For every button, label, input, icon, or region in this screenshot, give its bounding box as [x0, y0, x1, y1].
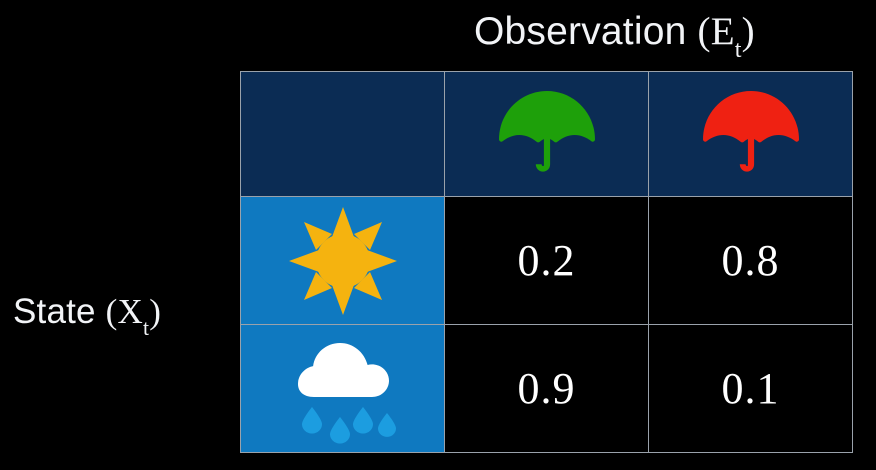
table-row: 0.2 0.8	[241, 197, 853, 325]
state-open-paren: (	[106, 292, 118, 331]
probability-cell-sun-red: 0.8	[649, 197, 853, 325]
state-variable: X	[118, 292, 143, 331]
row-header-rainy	[241, 325, 445, 453]
probability-cell-rain-green: 0.9	[445, 325, 649, 453]
probability-value: 0.1	[722, 367, 780, 411]
probability-cell-sun-green: 0.2	[445, 197, 649, 325]
row-header-sunny	[241, 197, 445, 325]
probability-value: 0.8	[722, 239, 780, 283]
state-axis-label: State (Xt)	[13, 290, 161, 334]
probability-value: 0.2	[518, 239, 576, 283]
observation-label-prefix: Observation	[474, 10, 698, 53]
table-row: 0.9 0.1	[241, 325, 853, 453]
probability-value: 0.9	[518, 367, 576, 411]
observation-close-paren: )	[742, 10, 755, 53]
green-umbrella-icon	[445, 72, 648, 196]
state-close-paren: )	[149, 292, 161, 331]
observation-open-paren: (	[698, 10, 711, 53]
observation-variable: E	[711, 10, 735, 53]
observation-axis-label: Observation (Et)	[474, 8, 755, 56]
observation-subscript: t	[735, 36, 742, 63]
state-subscript: t	[143, 316, 149, 340]
column-header-red-umbrella	[649, 72, 853, 197]
state-label-prefix: State	[13, 292, 106, 331]
probability-cell-rain-red: 0.1	[649, 325, 853, 453]
sun-icon	[241, 197, 444, 324]
rain-cloud-icon	[241, 325, 444, 452]
table-corner-cell	[241, 72, 445, 197]
red-umbrella-icon	[649, 72, 852, 196]
table-header-row	[241, 72, 853, 197]
slide-canvas: Observation (Et) State (Xt)	[0, 0, 876, 470]
emission-probability-table: 0.2 0.8	[240, 71, 853, 453]
column-header-green-umbrella	[445, 72, 649, 197]
